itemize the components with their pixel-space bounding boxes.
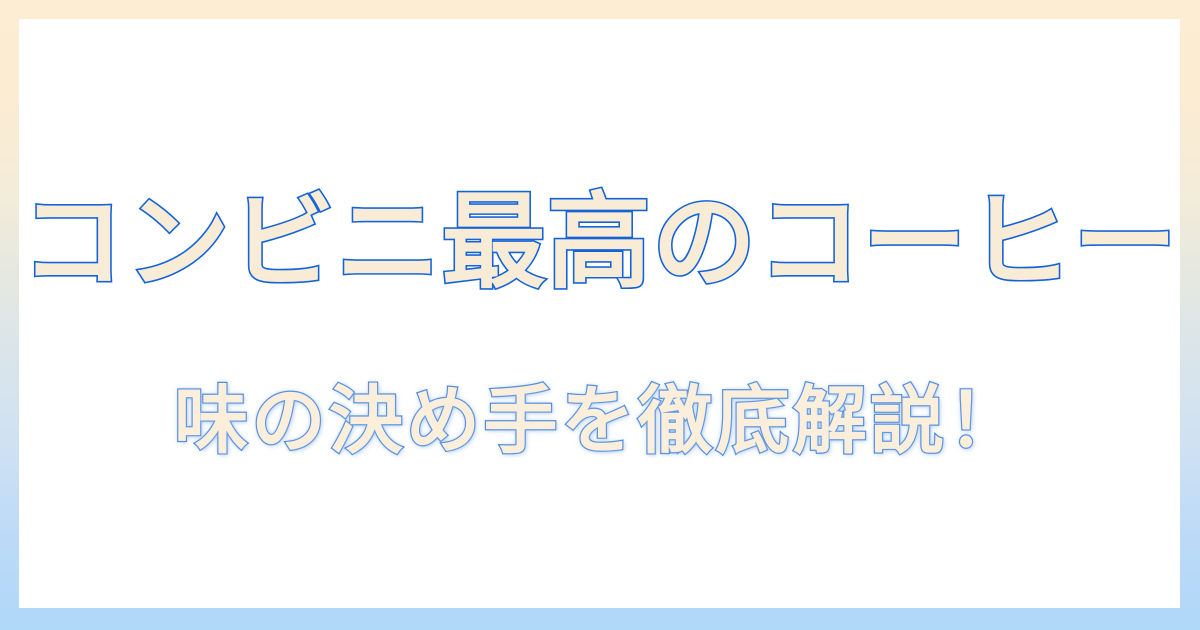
subtitle-container: 味の決め手を徹底解説！ (19, 381, 1180, 462)
banner-title: コンビニ最高のコーヒー (21, 187, 1179, 297)
title-container: コンビニ最高のコーヒー (19, 187, 1180, 297)
banner-card: コンビニ最高のコーヒー 味の決め手を徹底解説！ (19, 19, 1180, 608)
banner-frame: コンビニ最高のコーヒー 味の決め手を徹底解説！ (0, 0, 1200, 630)
banner-subtitle: 味の決め手を徹底解説！ (174, 381, 1025, 462)
